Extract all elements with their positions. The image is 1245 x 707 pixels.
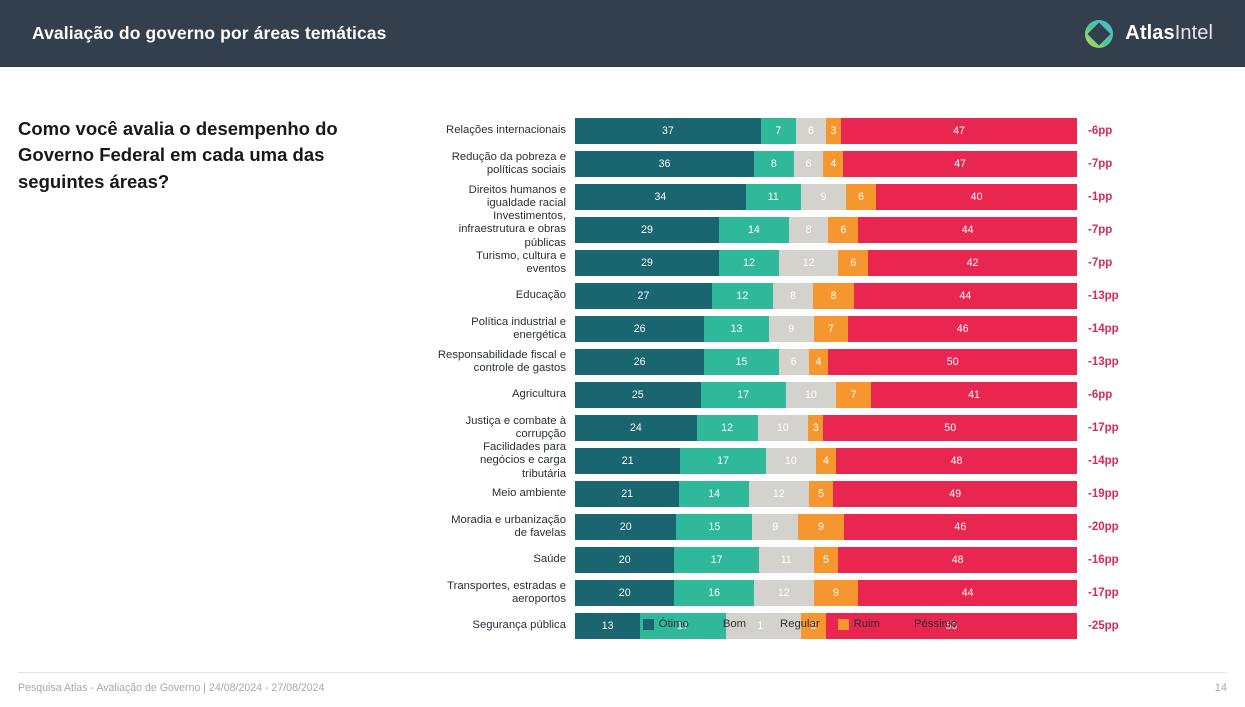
legend-item[interactable]: Péssimo: [898, 618, 957, 630]
chart-segment-otimo: 20: [575, 580, 674, 606]
chart-row: Educação27128844-13pp: [420, 281, 1180, 311]
chart-segment-otimo: 34: [575, 184, 746, 210]
legend-label: Ruim: [854, 618, 880, 630]
chart-row: Moradia e urbanização de favelas20159946…: [420, 512, 1180, 542]
chart-segment-bom: 12: [697, 415, 758, 441]
chart-segment-ruim: 9: [798, 514, 844, 540]
chart-segment-ruim: 4: [809, 349, 829, 375]
chart-segment-regular: 8: [773, 283, 814, 309]
chart-row: Turismo, cultura e eventos291212642-7pp: [420, 248, 1180, 278]
chart-segment-regular: 6: [794, 151, 824, 177]
chart-segment-otimo: 24: [575, 415, 697, 441]
chart-row-label: Justiça e combate à corrupção: [420, 415, 575, 442]
chart-row-delta: -14pp: [1077, 455, 1139, 467]
chart-bar: 20159946: [575, 514, 1077, 540]
chart-segment-ruim: 3: [808, 415, 823, 441]
chart-segment-pessimo: 47: [843, 151, 1077, 177]
chart-row: Redução da pobreza e políticas sociais36…: [420, 149, 1180, 179]
legend-swatch-icon: [764, 619, 775, 630]
chart-row-label: Educação: [420, 289, 575, 302]
chart-row-delta: -7pp: [1077, 158, 1139, 170]
chart-bar: 27128844: [575, 283, 1077, 309]
chart-segment-otimo: 36: [575, 151, 754, 177]
chart-segment-bom: 15: [704, 349, 779, 375]
chart-row: Política industrial e energética26139746…: [420, 314, 1180, 344]
chart-row-label: Política industrial e energética: [420, 316, 575, 343]
chart-segment-otimo: 20: [575, 514, 676, 540]
chart-segment-regular: 9: [801, 184, 846, 210]
chart-segment-ruim: 8: [813, 283, 854, 309]
chart-segment-bom: 13: [704, 316, 769, 342]
chart-segment-regular: 12: [754, 580, 814, 606]
chart-row-label: Investimentos, infraestrutura e obras pú…: [420, 210, 575, 250]
chart-segment-otimo: 21: [575, 448, 680, 474]
chart-row-delta: -19pp: [1077, 488, 1139, 500]
chart-segment-ruim: 4: [816, 448, 836, 474]
chart-segment-ruim: 5: [809, 481, 834, 507]
chart-row-delta: -17pp: [1077, 587, 1139, 599]
chart-segment-otimo: 20: [575, 547, 674, 573]
chart-row-delta: -6pp: [1077, 125, 1139, 137]
chart-row-label: Meio ambiente: [420, 487, 575, 500]
chart-segment-pessimo: 48: [836, 448, 1077, 474]
legend-label: Bom: [723, 618, 746, 630]
survey-question: Como você avalia o desempenho do Governo…: [18, 116, 388, 195]
chart-segment-pessimo: 46: [844, 514, 1077, 540]
chart-bar: 201612944: [575, 580, 1077, 606]
footer-divider: [18, 672, 1227, 673]
chart-segment-bom: 12: [719, 250, 779, 276]
chart-segment-regular: 6: [779, 349, 809, 375]
chart-segment-bom: 7: [761, 118, 796, 144]
chart-segment-regular: 11: [759, 547, 814, 573]
chart-segment-regular: 9: [752, 514, 798, 540]
chart-segment-otimo: 25: [575, 382, 701, 408]
legend-item[interactable]: Bom: [707, 618, 746, 630]
chart-row-label: Responsabilidade fiscal e controle de ga…: [420, 349, 575, 376]
chart-segment-otimo: 26: [575, 349, 704, 375]
chart-segment-pessimo: 50: [823, 415, 1077, 441]
chart-row-delta: -6pp: [1077, 389, 1139, 401]
chart-row: Relações internacionais3776347-6pp: [420, 116, 1180, 146]
chart-segment-bom: 17: [674, 547, 758, 573]
chart-segment-bom: 14: [679, 481, 749, 507]
chart-segment-regular: 12: [779, 250, 839, 276]
chart-segment-bom: 8: [754, 151, 794, 177]
chart-bar: 26139746: [575, 316, 1077, 342]
chart-segment-regular: 10: [766, 448, 816, 474]
chart-segment-regular: 6: [796, 118, 826, 144]
legend-item[interactable]: Ruim: [838, 618, 880, 630]
chart-segment-regular: 10: [786, 382, 836, 408]
chart-row: Facilidades para negócios e carga tribut…: [420, 446, 1180, 476]
chart-row: Saúde201711548-16pp: [420, 545, 1180, 575]
chart-row-delta: -7pp: [1077, 224, 1139, 236]
chart-row-delta: -20pp: [1077, 521, 1139, 533]
chart-row-delta: -7pp: [1077, 257, 1139, 269]
chart-row-label: Relações internacionais: [420, 124, 575, 137]
chart-bar: 211412549: [575, 481, 1077, 507]
chart-row-delta: -17pp: [1077, 422, 1139, 434]
footer-page-number: 14: [1215, 682, 1227, 694]
chart-row: Responsabilidade fiscal e controle de ga…: [420, 347, 1180, 377]
chart-bar: 241210350: [575, 415, 1077, 441]
chart-segment-ruim: 6: [828, 217, 858, 243]
chart-segment-pessimo: 50: [828, 349, 1077, 375]
chart-segment-pessimo: 48: [838, 547, 1077, 573]
chart-segment-ruim: 6: [846, 184, 876, 210]
chart-row-delta: -16pp: [1077, 554, 1139, 566]
chart-segment-pessimo: 49: [833, 481, 1077, 507]
chart-segment-pessimo: 40: [876, 184, 1077, 210]
chart-segment-regular: 9: [769, 316, 814, 342]
chart-row-delta: -14pp: [1077, 323, 1139, 335]
brand-primary: Atlas: [1125, 22, 1174, 44]
chart-segment-pessimo: 44: [854, 283, 1077, 309]
atlasintel-logo: AtlasIntel: [1082, 17, 1213, 51]
chart-segment-otimo: 29: [575, 217, 719, 243]
chart-row: Agricultura251710741-6pp: [420, 380, 1180, 410]
chart-row-delta: -1pp: [1077, 191, 1139, 203]
legend-item[interactable]: Regular: [764, 618, 820, 630]
chart-row-delta: -13pp: [1077, 290, 1139, 302]
brand-secondary: Intel: [1175, 22, 1213, 44]
chart-bar: 211710448: [575, 448, 1077, 474]
chart-row: Meio ambiente211412549-19pp: [420, 479, 1180, 509]
chart-segment-regular: 8: [789, 217, 829, 243]
chart-segment-pessimo: 46: [848, 316, 1077, 342]
legend-label: Péssimo: [914, 618, 957, 630]
chart-row-label: Transportes, estradas e aeroportos: [420, 580, 575, 607]
chart-segment-pessimo: 42: [868, 250, 1077, 276]
chart-segment-ruim: 5: [814, 547, 839, 573]
legend-label: Ótimo: [659, 618, 689, 630]
legend-item[interactable]: Ótimo: [643, 618, 689, 630]
chart-row-label: Agricultura: [420, 388, 575, 401]
chart-bar: 291212642: [575, 250, 1077, 276]
chart-segment-otimo: 21: [575, 481, 679, 507]
chart-segment-pessimo: 41: [871, 382, 1077, 408]
chart-segment-bom: 11: [746, 184, 801, 210]
chart-row: Direitos humanos e igualdade racial34119…: [420, 182, 1180, 212]
chart-bar: 29148644: [575, 217, 1077, 243]
chart-segment-bom: 14: [719, 217, 789, 243]
chart-row: Investimentos, infraestrutura e obras pú…: [420, 215, 1180, 245]
chart-segment-ruim: 7: [814, 316, 849, 342]
page-header: Avaliação do governo por áreas temáticas…: [0, 0, 1245, 67]
chart-row-delta: -13pp: [1077, 356, 1139, 368]
chart-row-label: Redução da pobreza e políticas sociais: [420, 151, 575, 178]
chart-segment-ruim: 6: [838, 250, 868, 276]
footer-source: Pesquisa Atlas - Avaliação de Governo | …: [18, 682, 324, 694]
chart-segment-bom: 17: [680, 448, 765, 474]
chart-segment-bom: 17: [701, 382, 786, 408]
chart-row-label: Direitos humanos e igualdade racial: [420, 184, 575, 211]
chart-segment-ruim: 9: [814, 580, 859, 606]
page-title: Avaliação do governo por áreas temáticas: [32, 23, 386, 44]
legend-swatch-icon: [643, 619, 654, 630]
brand-wordmark: AtlasIntel: [1125, 22, 1213, 45]
chart-row-label: Turismo, cultura e eventos: [420, 250, 575, 277]
legend-swatch-icon: [898, 619, 909, 630]
chart-row: Justiça e combate à corrupção241210350-1…: [420, 413, 1180, 443]
atlasintel-mark-icon: [1082, 17, 1116, 51]
chart-bar: 26156450: [575, 349, 1077, 375]
chart-segment-ruim: 3: [826, 118, 841, 144]
chart-segment-pessimo: 44: [858, 217, 1077, 243]
chart-segment-regular: 12: [749, 481, 809, 507]
chart-segment-bom: 16: [674, 580, 754, 606]
chart-segment-otimo: 37: [575, 118, 761, 144]
chart-bar: 3686447: [575, 151, 1077, 177]
chart-segment-bom: 12: [712, 283, 773, 309]
chart-bar: 34119640: [575, 184, 1077, 210]
chart-row-label: Moradia e urbanização de favelas: [420, 514, 575, 541]
chart-segment-ruim: 4: [823, 151, 843, 177]
chart-segment-pessimo: 47: [841, 118, 1077, 144]
chart-segment-regular: 10: [758, 415, 809, 441]
chart-row-label: Saúde: [420, 553, 575, 566]
chart-row: Transportes, estradas e aeroportos201612…: [420, 578, 1180, 608]
chart-row-label: Facilidades para negócios e carga tribut…: [420, 441, 575, 481]
legend-swatch-icon: [707, 619, 718, 630]
chart-legend: ÓtimoBomRegularRuimPéssimo: [420, 618, 1180, 630]
chart-segment-ruim: 7: [836, 382, 871, 408]
legend-label: Regular: [780, 618, 820, 630]
chart-bar: 201711548: [575, 547, 1077, 573]
stacked-bar-chart: Relações internacionais3776347-6ppReduçã…: [420, 116, 1180, 644]
chart-segment-bom: 15: [676, 514, 752, 540]
legend-swatch-icon: [838, 619, 849, 630]
chart-segment-otimo: 27: [575, 283, 712, 309]
chart-segment-pessimo: 44: [858, 580, 1077, 606]
chart-bar: 251710741: [575, 382, 1077, 408]
chart-segment-otimo: 26: [575, 316, 704, 342]
chart-bar: 3776347: [575, 118, 1077, 144]
chart-segment-otimo: 29: [575, 250, 719, 276]
